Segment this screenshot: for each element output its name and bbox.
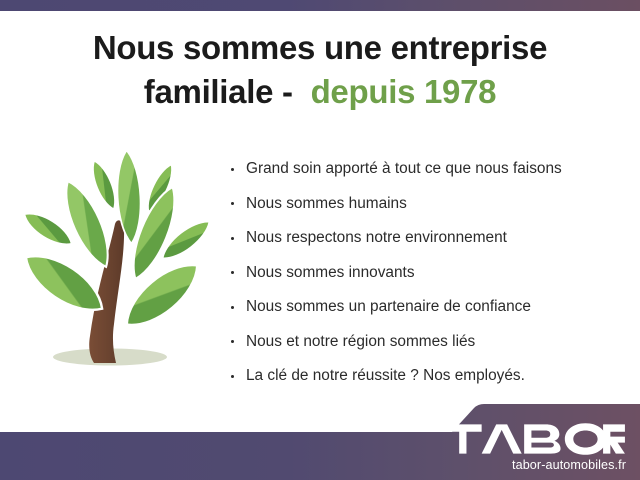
headline-line-1: Nous sommes une entreprise bbox=[0, 26, 640, 70]
brand-logo: tabor-automobiles.fr bbox=[444, 422, 626, 472]
list-item: Nous sommes humains bbox=[228, 187, 628, 222]
brand-url: tabor-automobiles.fr bbox=[444, 458, 626, 472]
list-item: Nous respectons notre environnement bbox=[228, 221, 628, 256]
tree-illustration bbox=[12, 152, 212, 384]
headline-line-2-plain: familiale - bbox=[144, 73, 302, 110]
list-item: Grand soin apporté à tout ce que nous fa… bbox=[228, 152, 628, 187]
slide-canvas: Nous sommes une entreprise familiale - d… bbox=[0, 0, 640, 480]
top-accent-bar bbox=[0, 0, 640, 11]
list-item: Nous sommes innovants bbox=[228, 256, 628, 291]
list-item: Nous et notre région sommes liés bbox=[228, 325, 628, 360]
tabor-wordmark bbox=[444, 422, 626, 456]
page-title: Nous sommes une entreprise familiale - d… bbox=[0, 26, 640, 113]
footer-shape bbox=[0, 404, 640, 480]
headline-accent-year: depuis 1978 bbox=[311, 73, 497, 110]
value-list: Grand soin apporté à tout ce que nous fa… bbox=[228, 152, 628, 394]
list-item: La clé de notre réussite ? Nos employés. bbox=[228, 359, 628, 394]
list-item: Nous sommes un partenaire de confiance bbox=[228, 290, 628, 325]
headline-line-2: familiale - depuis 1978 bbox=[0, 70, 640, 114]
